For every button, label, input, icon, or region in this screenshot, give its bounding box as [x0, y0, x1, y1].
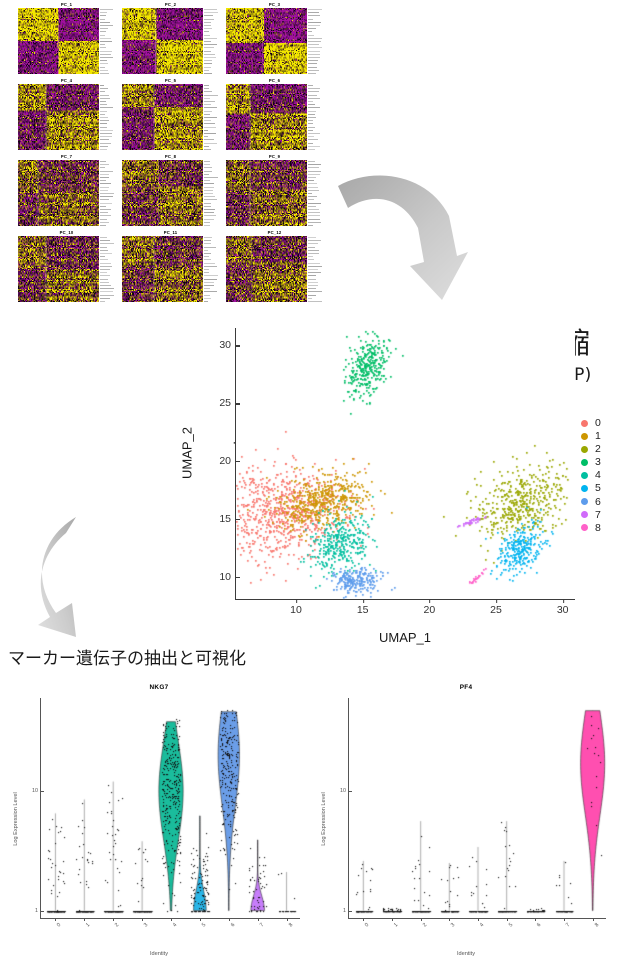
legend-item-cluster-2[interactable]: 2	[581, 444, 601, 454]
violin-pf4-x-axis-label: Identity	[457, 951, 475, 957]
umap-point-cloud	[236, 328, 576, 600]
pca-panel: PC_3	[226, 2, 323, 74]
pca-heatmap-image	[18, 160, 99, 226]
violin-x-tick: 1	[393, 922, 399, 928]
legend-color-dot-icon	[581, 472, 588, 479]
pca-panel: PC_12	[226, 230, 323, 302]
legend-item-label: 6	[595, 497, 601, 507]
curved-arrow-down-right-icon	[332, 168, 472, 310]
pca-heatmap-grid: PC_1PC_2PC_3PC_4PC_5PC_6PC_7PC_8PC_9PC_1…	[18, 2, 323, 302]
pca-gene-labels	[307, 84, 323, 150]
pca-panel: PC_6	[226, 78, 323, 150]
pca-gene-labels	[99, 8, 115, 74]
umap-y-axis-label: UMAP_2	[180, 427, 195, 479]
legend-color-dot-icon	[581, 433, 588, 440]
violin-x-tick: 4	[479, 922, 485, 928]
pca-panel: PC_5	[122, 78, 219, 150]
violin-x-tick: 3	[450, 922, 456, 928]
umap-y-tick: 30	[219, 339, 236, 351]
pca-gene-labels	[307, 236, 323, 302]
legend-item-cluster-0[interactable]: 0	[581, 418, 601, 428]
pca-heatmap-image	[122, 8, 203, 74]
violin-x-tick: 4	[172, 922, 178, 928]
violin-pf4-y-axis-label: Log Expression Level	[321, 792, 327, 846]
legend-item-label: 0	[595, 418, 601, 428]
violin-nkg7-y-axis-label: Log Expression Level	[13, 792, 19, 846]
violin-pf4-plot-area: 110012345678	[348, 698, 606, 919]
violin-nkg7-title: NKG7	[150, 684, 169, 691]
violin-pf4-x-tickmarks	[349, 918, 606, 921]
pca-panel: PC_1	[18, 2, 115, 74]
legend-color-dot-icon	[581, 459, 588, 466]
violin-plot-nkg7: NKG7 Log Expression Level 110012345678 I…	[4, 676, 314, 961]
umap-scatter-panel: UMAP_2 10152025301015202530 UMAP_1 01234…	[185, 318, 623, 653]
legend-item-label: 1	[595, 431, 601, 441]
pca-panel: PC_7	[18, 154, 115, 226]
pca-heatmap-image	[122, 160, 203, 226]
violin-x-tick: 1	[85, 922, 91, 928]
umap-x-tick: 10	[290, 599, 302, 616]
violin-x-tick: 7	[565, 922, 571, 928]
violin-x-tick: 8	[594, 922, 600, 928]
pca-gene-labels	[307, 8, 323, 74]
umap-plot-area: 10152025301015202530	[235, 328, 575, 600]
legend-item-cluster-7[interactable]: 7	[581, 510, 601, 520]
legend-item-label: 2	[595, 444, 601, 454]
umap-x-tick: 30	[557, 599, 569, 616]
pca-panel: PC_4	[18, 78, 115, 150]
violin-pf4-shapes	[349, 698, 607, 919]
legend-color-dot-icon	[581, 511, 588, 518]
pca-heatmap-image	[18, 84, 99, 150]
violin-x-tick: 2	[422, 922, 428, 928]
pca-gene-labels	[99, 236, 115, 302]
curved-arrow-down-left-icon	[16, 515, 151, 650]
umap-y-tick: 10	[219, 571, 236, 583]
violin-x-tick: 2	[114, 922, 120, 928]
violin-nkg7-x-axis-label: Identity	[150, 951, 168, 957]
legend-item-label: 7	[595, 510, 601, 520]
umap-cluster-legend: 012345678	[581, 418, 601, 533]
pca-heatmap-image	[122, 236, 203, 302]
legend-item-label: 4	[595, 470, 601, 480]
pca-panel: PC_2	[122, 2, 219, 74]
legend-color-dot-icon	[581, 524, 588, 531]
legend-item-cluster-1[interactable]: 1	[581, 431, 601, 441]
legend-item-label: 5	[595, 483, 601, 493]
umap-y-tick: 25	[219, 397, 236, 409]
legend-color-dot-icon	[581, 420, 588, 427]
pca-gene-labels	[99, 160, 115, 226]
violin-nkg7-plot-area: 110012345678	[40, 698, 300, 919]
violin-y-tick: 10	[340, 788, 349, 794]
pca-panel: PC_8	[122, 154, 219, 226]
violin-y-tick: 10	[32, 788, 41, 794]
violin-x-tick: 0	[56, 922, 62, 928]
violin-nkg7-x-tickmarks	[41, 918, 300, 921]
legend-item-cluster-8[interactable]: 8	[581, 523, 601, 533]
pca-heatmap-image	[18, 8, 99, 74]
violin-x-tick: 3	[143, 922, 149, 928]
pca-heatmap-image	[226, 84, 307, 150]
pca-gene-labels	[203, 84, 219, 150]
violin-nkg7-shapes	[41, 698, 301, 919]
pca-heatmap-image	[122, 84, 203, 150]
pca-gene-labels	[203, 236, 219, 302]
pca-gene-labels	[203, 160, 219, 226]
violin-pf4-title: PF4	[460, 684, 473, 691]
slide-canvas: PC_1PC_2PC_3PC_4PC_5PC_6PC_7PC_8PC_9PC_1…	[0, 0, 623, 965]
umap-x-tick: 15	[357, 599, 369, 616]
violin-x-tick: 6	[536, 922, 542, 928]
legend-item-label: 3	[595, 457, 601, 467]
legend-color-dot-icon	[581, 485, 588, 492]
violin-x-tick: 6	[230, 922, 236, 928]
violin-x-tick: 5	[201, 922, 207, 928]
umap-x-axis-label: UMAP_1	[379, 630, 431, 645]
violin-y-tick: 1	[35, 908, 41, 914]
violin-x-tick: 7	[259, 922, 265, 928]
legend-item-cluster-6[interactable]: 6	[581, 497, 601, 507]
violin-x-tick: 0	[364, 922, 370, 928]
legend-color-dot-icon	[581, 446, 588, 453]
pca-heatmap-image	[226, 236, 307, 302]
legend-item-cluster-5[interactable]: 5	[581, 483, 601, 493]
pca-heatmap-image	[226, 160, 307, 226]
pca-gene-labels	[99, 84, 115, 150]
pca-panel: PC_10	[18, 230, 115, 302]
violin-x-tick: 5	[508, 922, 514, 928]
umap-y-tick: 20	[219, 455, 236, 467]
legend-item-cluster-3[interactable]: 3	[581, 457, 601, 467]
violin-x-tick: 8	[287, 922, 293, 928]
pca-panel: PC_9	[226, 154, 323, 226]
pca-gene-labels	[307, 160, 323, 226]
pca-panel: PC_11	[122, 230, 219, 302]
legend-color-dot-icon	[581, 498, 588, 505]
umap-x-tick: 20	[423, 599, 435, 616]
umap-x-tick: 25	[490, 599, 502, 616]
legend-item-label: 8	[595, 523, 601, 533]
legend-item-cluster-4[interactable]: 4	[581, 470, 601, 480]
violin-y-tick: 1	[343, 908, 349, 914]
pca-heatmap-image	[226, 8, 307, 74]
pca-heatmap-image	[18, 236, 99, 302]
violin-plot-pf4: PF4 Log Expression Level 110012345678 Id…	[312, 676, 620, 961]
umap-y-tick: 15	[219, 513, 236, 525]
pca-gene-labels	[203, 8, 219, 74]
